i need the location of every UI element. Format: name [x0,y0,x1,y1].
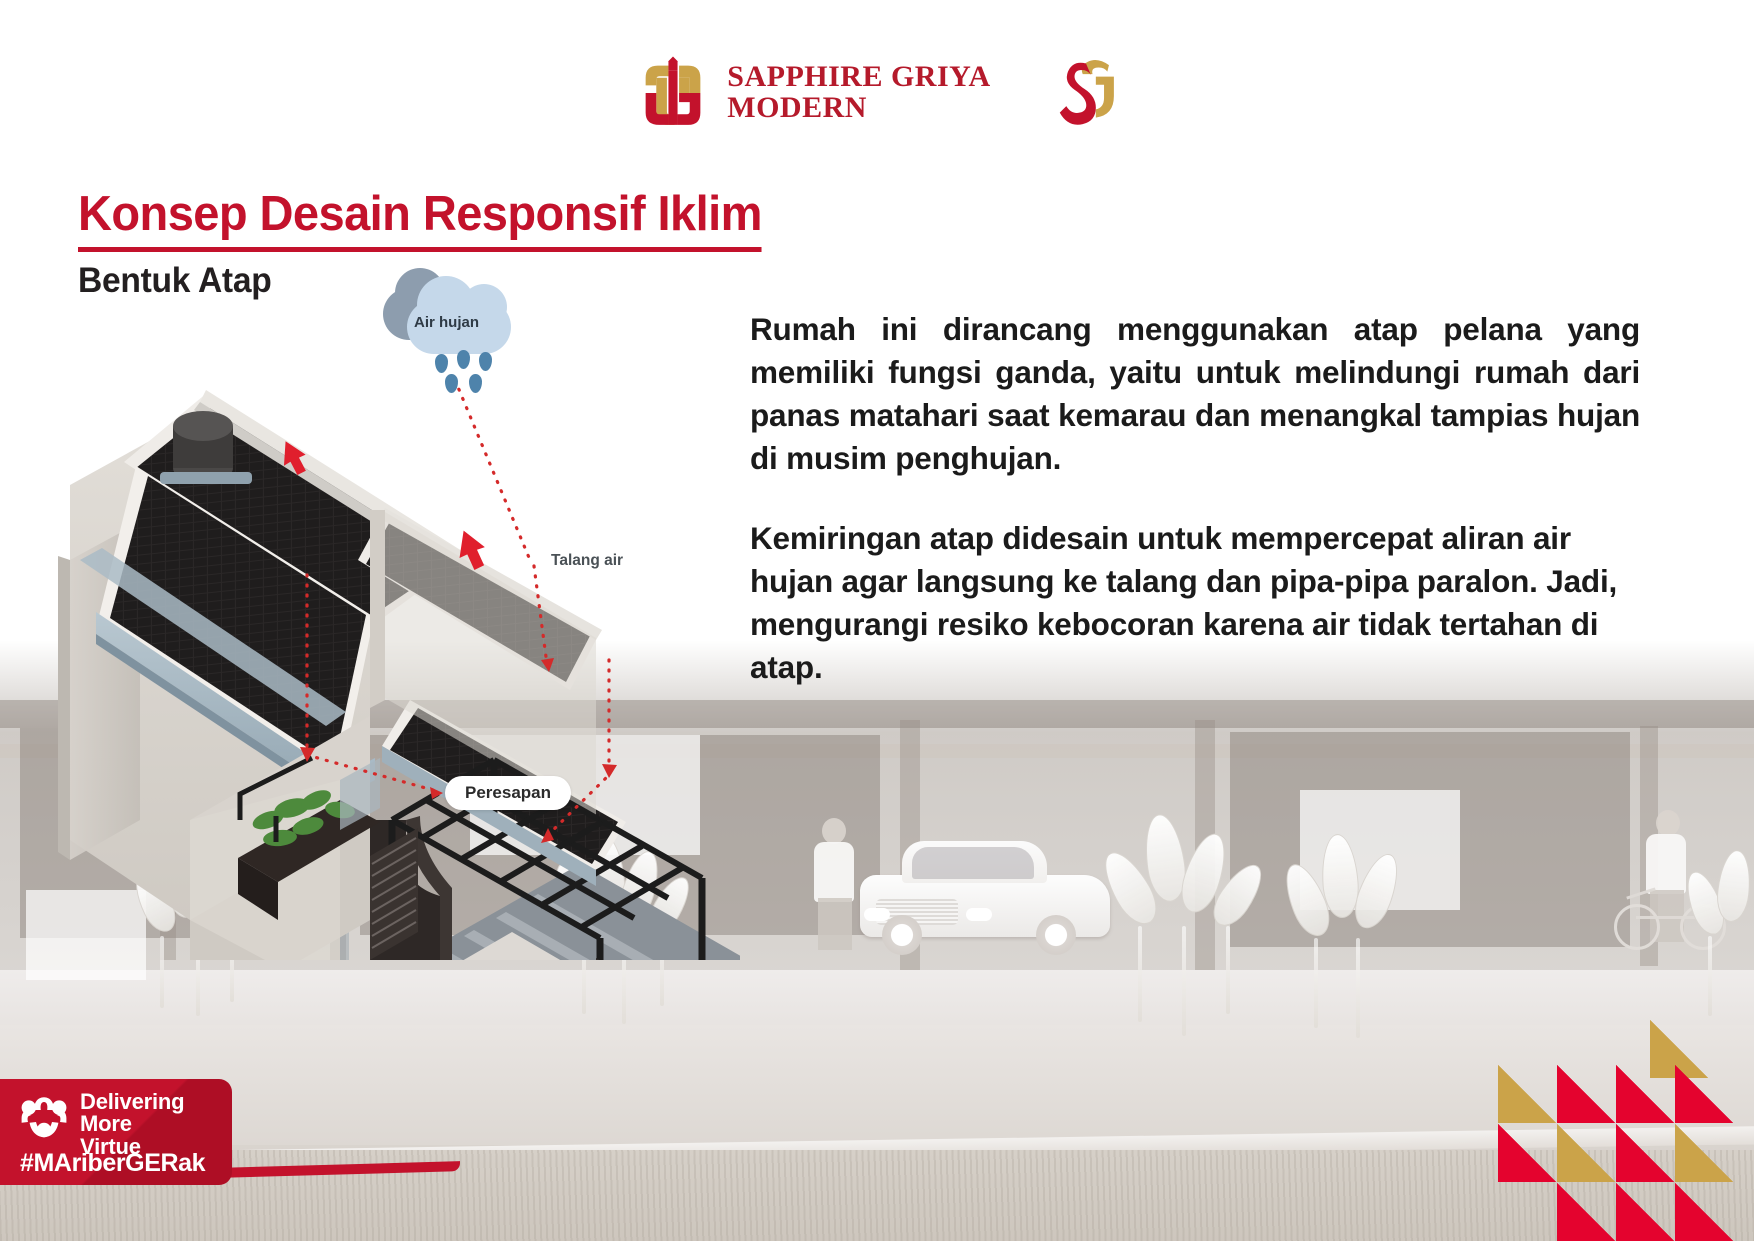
triangle-red [1616,1124,1674,1182]
logo-sapphire-griya-modern: SAPPHIRE GRIYA MODERN [635,55,990,131]
paragraph-2: Kemiringan atap didesain untuk mempercep… [750,517,1640,690]
raindrop-icon [457,350,470,369]
paragraph-1: Rumah ini dirancang menggunakan atap pel… [750,308,1640,481]
triangle-red [1498,1124,1556,1182]
page-subtitle: Bentuk Atap [78,261,762,301]
raindrop-icon [435,354,448,373]
delivering-more-virtue-badge: Delivering More Virtue #MAriberGERak [0,1079,232,1185]
paragraph-gap [750,481,1640,517]
background-person [806,818,866,948]
triangle-pattern [1488,1020,1754,1241]
badge-line-2: More [80,1113,184,1135]
body-copy: Rumah ini dirancang menggunakan atap pel… [750,308,1640,689]
triangle-gold [1498,1065,1556,1123]
triangle-gold [1557,1124,1615,1182]
triangle-red [1616,1183,1674,1241]
background-car [860,830,1110,955]
header-logos: SAPPHIRE GRIYA MODERN [0,40,1754,145]
logo-wordmark: SAPPHIRE GRIYA MODERN [727,62,990,123]
triangle-red [1557,1183,1615,1241]
raindrop-icon [479,352,492,371]
logo-sg-monogram [1053,52,1119,134]
logo-line-2: MODERN [727,93,990,124]
triangle-red [1675,1065,1733,1123]
slope-arrow-icon [278,438,322,482]
page-heading: Konsep Desain Responsif Iklim Bentuk Ata… [78,186,790,301]
triangle-red [1557,1065,1615,1123]
logo-line-1: SAPPHIRE GRIYA [727,62,990,93]
sg-emblem-icon [635,55,711,131]
infiltration-label: Peresapan [445,776,571,810]
slope-arrow-icon [455,528,499,576]
gutter-label: Talang air [551,552,623,570]
cloud-label: Air hujan [414,314,479,331]
badge-line-1: Delivering [80,1091,184,1113]
triangle-red [1616,1065,1674,1123]
page-title: Konsep Desain Responsif Iklim [78,186,762,252]
triangle-gold [1675,1124,1733,1182]
triangle-red [1675,1183,1733,1241]
three-people-icon [18,1094,70,1142]
badge-hashtag: #MAriberGERak [20,1149,205,1178]
